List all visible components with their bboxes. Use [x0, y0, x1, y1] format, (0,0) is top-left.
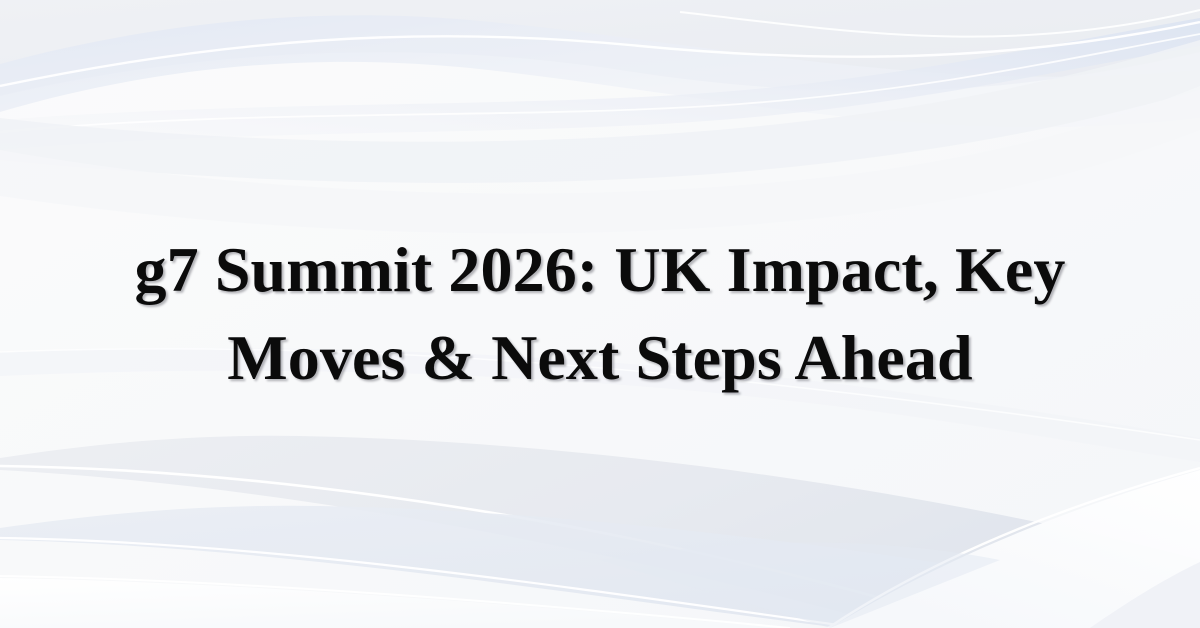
title-card: g7 Summit 2026: UK Impact, Key Moves & N…: [0, 0, 1200, 628]
title-block: g7 Summit 2026: UK Impact, Key Moves & N…: [0, 0, 1200, 628]
page-title: g7 Summit 2026: UK Impact, Key Moves & N…: [60, 226, 1140, 402]
